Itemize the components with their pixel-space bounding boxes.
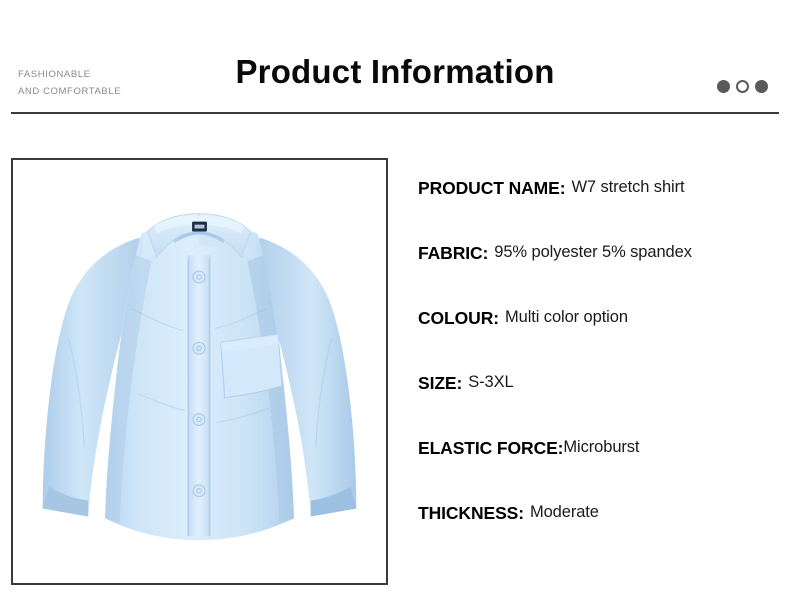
spec-row-product-name: PRODUCT NAME: W7 stretch shirt [418,178,780,243]
spec-row-elastic-force: ELASTIC FORCE: Microburst [418,438,780,503]
spec-label: ELASTIC FORCE: [418,438,563,459]
spec-row-colour: COLOUR: Multi color option [418,308,780,373]
dot-hollow-middle [736,80,749,93]
spec-row-size: SIZE: S-3XL [418,373,780,438]
shirt-button [193,342,205,354]
page-title: Product Information [0,52,790,92]
spec-value: Microburst [563,438,639,457]
spec-row-thickness: THICKNESS: Moderate [418,503,780,568]
dot-filled-right [755,80,768,93]
spec-value: 95% polyester 5% spandex [488,243,692,262]
header-divider [11,112,779,114]
spec-label: FABRIC: [418,243,488,264]
spec-label: PRODUCT NAME: [418,178,565,199]
page-header: FASHIONABLE AND COMFORTABLE Product Info… [0,0,790,113]
spec-label: SIZE: [418,373,462,394]
shirt-button [193,414,205,426]
spec-label: THICKNESS: [418,503,524,524]
spec-value: Moderate [524,503,599,522]
spec-value: W7 stretch shirt [565,178,684,197]
spec-row-fabric: FABRIC: 95% polyester 5% spandex [418,243,780,308]
spec-value: Multi color option [499,308,628,327]
shirt-button [193,271,205,283]
product-photo-shirt [13,160,386,583]
dot-filled-left [717,80,730,93]
shirt-button [193,485,205,497]
decorative-dots [717,80,768,93]
spec-value: S-3XL [462,373,513,392]
product-spec-list: PRODUCT NAME: W7 stretch shirt FABRIC: 9… [418,178,780,568]
product-image-frame [11,158,388,585]
spec-label: COLOUR: [418,308,499,329]
brand-label-text [195,225,205,229]
